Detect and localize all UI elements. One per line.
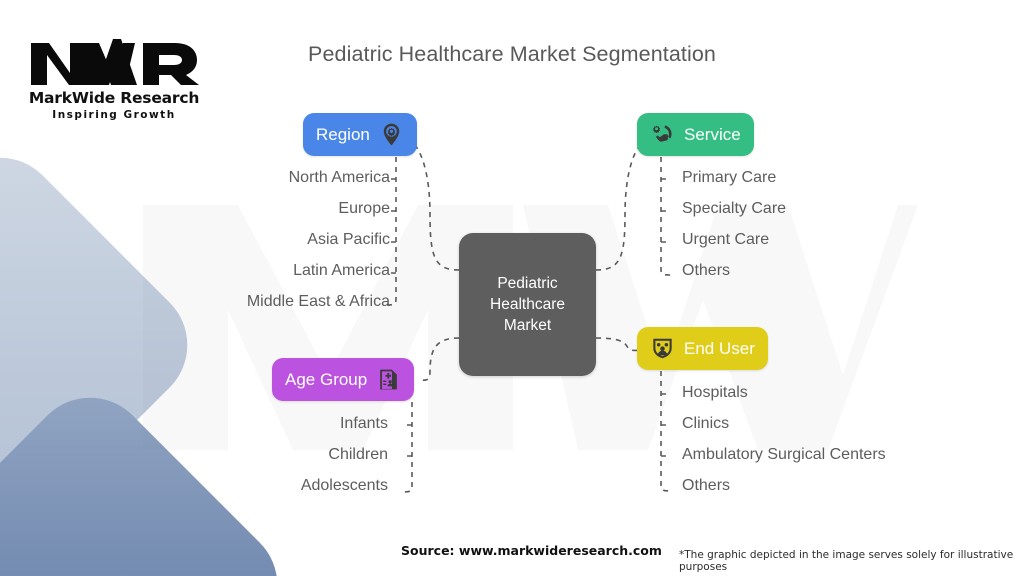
list-item[interactable]: Hospitals xyxy=(682,385,748,401)
medical-record-card-icon xyxy=(376,367,401,392)
list-item[interactable]: Latin America xyxy=(293,263,390,279)
branch-badge-service[interactable]: Service xyxy=(637,113,754,156)
list-item[interactable]: Urgent Care xyxy=(682,232,769,248)
branch-badge-enduser[interactable]: End User xyxy=(637,327,768,370)
list-item[interactable]: Middle East & Africa xyxy=(247,294,390,310)
shield-people-icon xyxy=(650,336,675,361)
branch-label-agegroup: Age Group xyxy=(285,370,367,390)
spine-service xyxy=(661,157,671,275)
connector-center-service xyxy=(596,136,655,270)
list-item[interactable]: Adolescents xyxy=(301,478,388,494)
location-pin-gear-icon xyxy=(379,122,404,147)
list-item[interactable]: Others xyxy=(682,478,730,494)
stubs-enduser xyxy=(661,394,671,456)
center-line-3: Market xyxy=(504,317,551,334)
list-item[interactable]: North America xyxy=(289,170,390,186)
hand-gear-service-icon xyxy=(650,122,675,147)
list-item[interactable]: Ambulatory Surgical Centers xyxy=(682,447,886,463)
list-item[interactable]: Infants xyxy=(340,416,388,432)
list-item[interactable]: Asia Pacific xyxy=(307,232,390,248)
diagram-canvas: MarkWide Research Inspiring Growth Pedia… xyxy=(0,0,1024,576)
branch-badge-region[interactable]: Region xyxy=(303,113,417,156)
list-item[interactable]: Others xyxy=(682,263,730,279)
stubs-region xyxy=(386,179,396,273)
list-item[interactable]: Clinics xyxy=(682,416,729,432)
list-item[interactable]: Children xyxy=(328,447,388,463)
stubs-agegroup xyxy=(402,425,412,456)
branch-label-region: Region xyxy=(316,125,370,145)
connector-center-agegroup xyxy=(418,338,459,380)
list-item[interactable]: Europe xyxy=(338,201,390,217)
connector-center-enduser xyxy=(596,338,643,351)
branch-label-service: Service xyxy=(684,125,741,145)
center-line-2: Healthcare xyxy=(490,296,565,313)
stubs-service xyxy=(661,179,671,242)
source-attribution[interactable]: Source: www.markwideresearch.com xyxy=(401,543,662,558)
disclaimer-note: *The graphic depicted in the image serve… xyxy=(679,549,1024,573)
branch-badge-agegroup[interactable]: Age Group xyxy=(272,358,414,401)
list-item[interactable]: Primary Care xyxy=(682,170,776,186)
branch-label-enduser: End User xyxy=(684,339,755,359)
list-item[interactable]: Specialty Care xyxy=(682,201,786,217)
center-line-1: Pediatric xyxy=(497,275,557,292)
connector-center-region xyxy=(400,136,459,270)
spine-enduser xyxy=(661,371,671,491)
center-node[interactable]: PediatricHealthcareMarket xyxy=(459,233,596,376)
spine-agegroup xyxy=(402,402,412,492)
center-node-label: PediatricHealthcareMarket xyxy=(490,273,565,336)
